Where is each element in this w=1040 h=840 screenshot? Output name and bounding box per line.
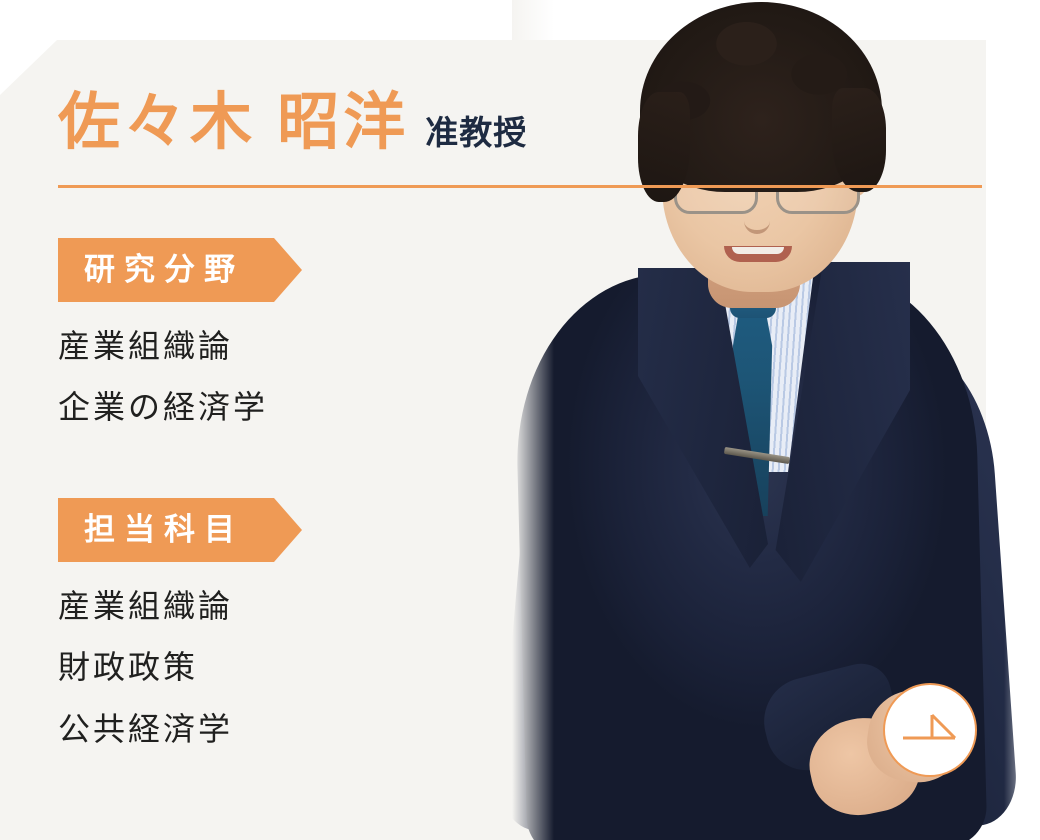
list-item: 企業の経済学 <box>58 377 302 438</box>
courses-list: 産業組織論 財政政策 公共経済学 <box>58 576 302 760</box>
section-heading-research-field: 研究分野 <box>58 238 302 302</box>
teeth <box>732 247 784 254</box>
page-title: 佐々木 昭洋 <box>58 92 409 154</box>
research-field-list: 産業組織論 企業の経済学 <box>58 316 302 439</box>
name-header: 佐々木 昭洋 准教授 <box>58 92 527 154</box>
section-heading-courses: 担当科目 <box>58 498 302 562</box>
arrow-right-icon <box>900 709 960 751</box>
header-divider <box>58 185 982 188</box>
section-courses: 担当科目 産業組織論 財政政策 公共経済学 <box>58 498 302 760</box>
list-item: 産業組織論 <box>58 576 302 637</box>
section-research-field: 研究分野 産業組織論 企業の経済学 <box>58 238 302 439</box>
profile-card: 佐々木 昭洋 准教授 研究分野 産業組織論 企業の経済学 担当科目 産業組織論 … <box>0 0 1040 840</box>
hair-side-right <box>832 88 886 192</box>
list-item: 財政政策 <box>58 637 302 698</box>
next-button[interactable] <box>883 683 977 777</box>
academic-rank: 准教授 <box>425 116 527 154</box>
list-item: 公共経済学 <box>58 699 302 760</box>
list-item: 産業組織論 <box>58 316 302 377</box>
